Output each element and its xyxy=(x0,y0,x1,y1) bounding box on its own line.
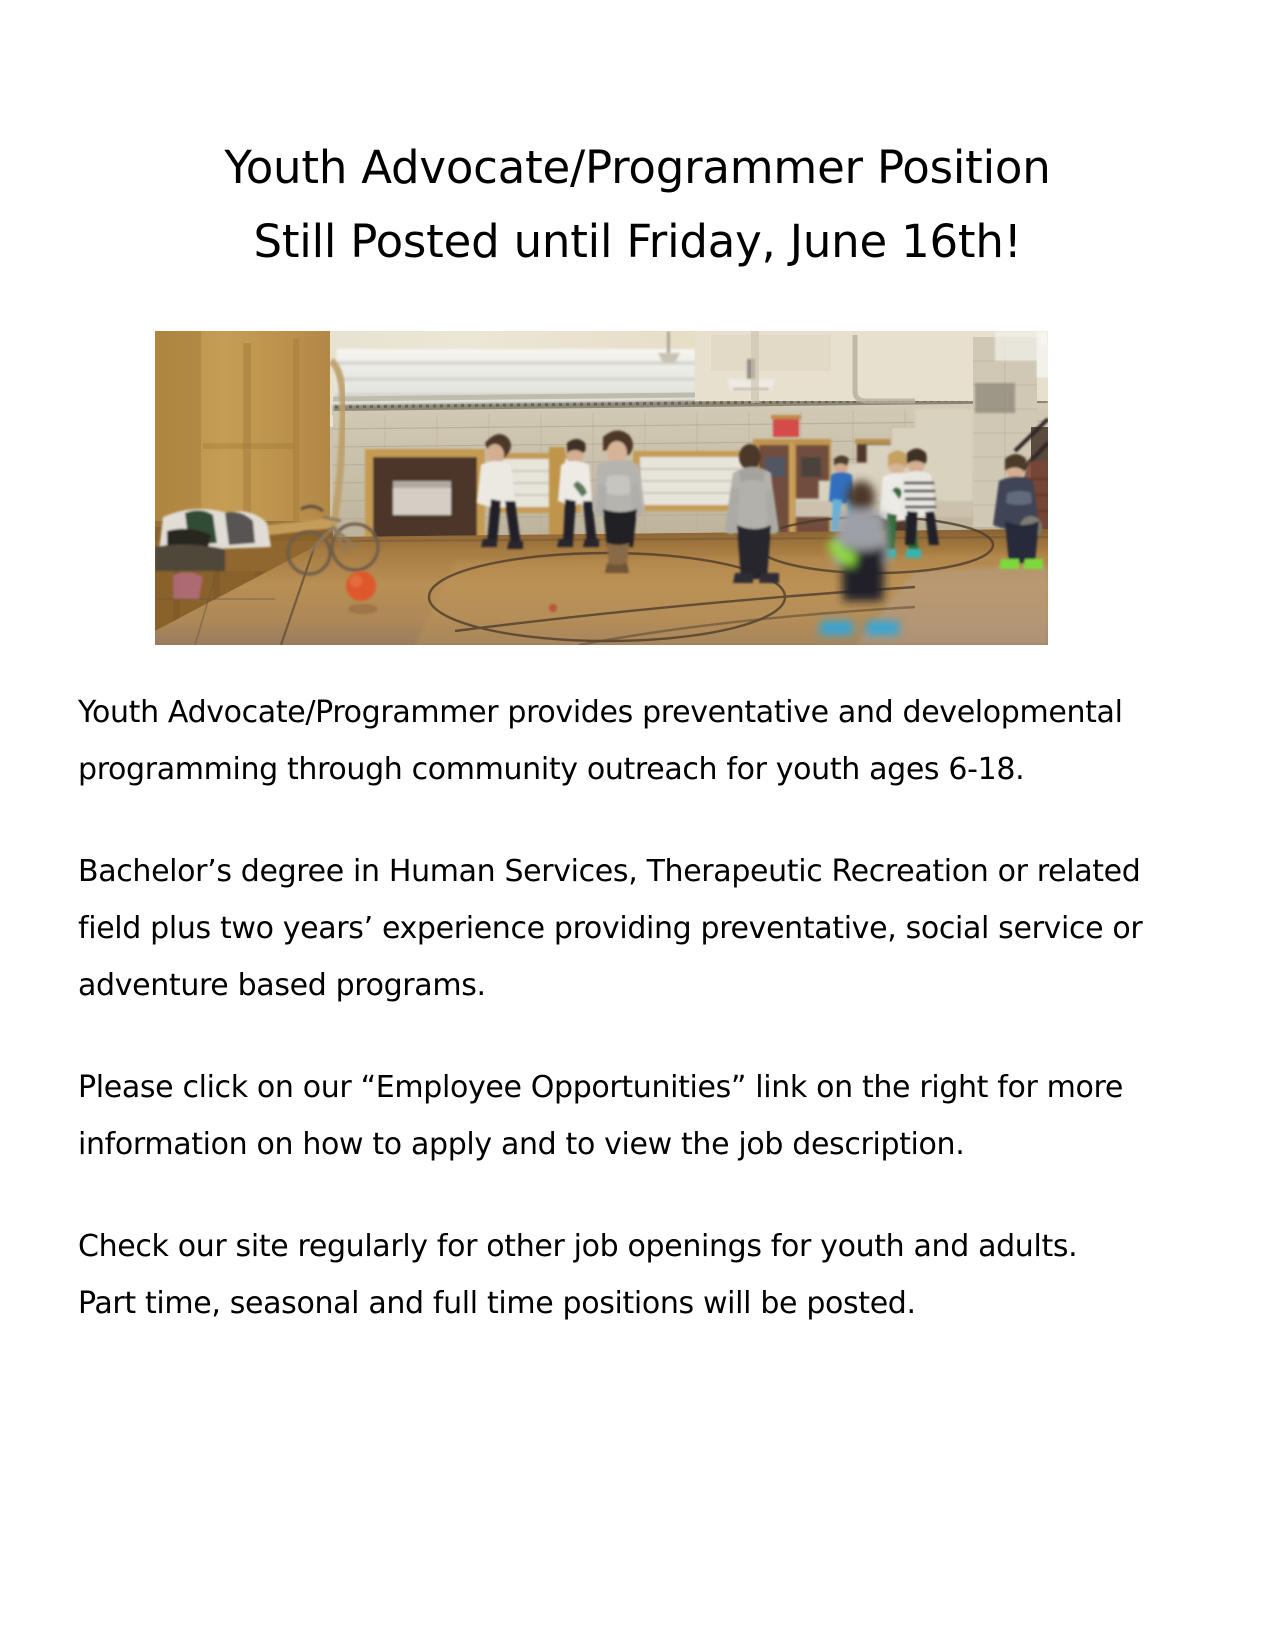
paragraph-line: Bachelor’s degree in Human Services, The… xyxy=(78,843,1148,900)
title-line-1: Youth Advocate/Programmer Position xyxy=(0,131,1275,205)
photo-illustration xyxy=(155,331,1048,645)
paragraph-line: Please click on our “Employee Opportunit… xyxy=(78,1059,1148,1116)
paragraph-role-summary: Youth Advocate/Programmer provides preve… xyxy=(78,684,1148,798)
paragraph-line: Youth Advocate/Programmer provides preve… xyxy=(78,684,1148,741)
body-text: Youth Advocate/Programmer provides preve… xyxy=(78,684,1148,1332)
gymnasium-youth-program-photo xyxy=(155,331,1048,645)
paragraph-qualifications: Bachelor’s degree in Human Services, The… xyxy=(78,843,1148,1014)
paragraph-how-to-apply: Please click on our “Employee Opportunit… xyxy=(78,1059,1148,1173)
paragraph-line: Check our site regularly for other job o… xyxy=(78,1218,1148,1275)
paragraph-line: programming through community outreach f… xyxy=(78,741,1148,798)
flyer-page: Youth Advocate/Programmer Position Still… xyxy=(0,0,1275,1650)
paragraph-line: adventure based programs. xyxy=(78,957,1148,1014)
paragraph-line: Part time, seasonal and full time positi… xyxy=(78,1275,1148,1332)
title-line-2: Still Posted until Friday, June 16th! xyxy=(0,205,1275,279)
page-title: Youth Advocate/Programmer Position Still… xyxy=(0,131,1275,279)
paragraph-line: field plus two years’ experience providi… xyxy=(78,900,1148,957)
paragraph-other-openings: Check our site regularly for other job o… xyxy=(78,1218,1148,1332)
paragraph-line: information on how to apply and to view … xyxy=(78,1116,1148,1173)
